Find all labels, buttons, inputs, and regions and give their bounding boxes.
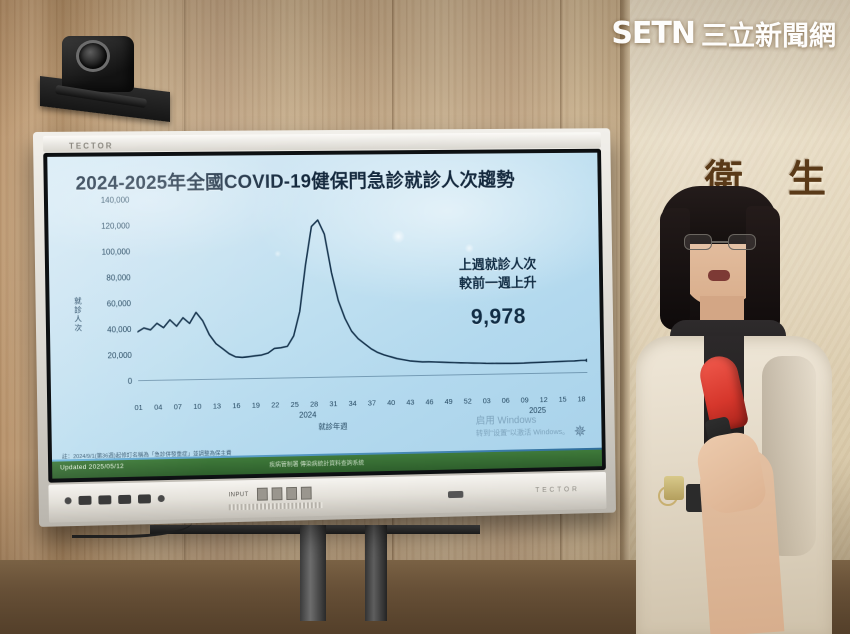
display-bezel: 2024-2025年全國COVID-19健保門急診就診人次趨勢 就診人次 020… (43, 149, 606, 483)
slide-title: 2024-2025年全國COVID-19健保門急診就診人次趨勢 (75, 164, 584, 195)
camera-lens-icon (76, 40, 110, 72)
display-screen[interactable]: 2024-2025年全國COVID-19健保門急診就診人次趨勢 就診人次 020… (47, 153, 602, 479)
channel-logo: SETN 三立新聞網 (611, 14, 836, 53)
chart-x-tick-label: 31 (329, 399, 337, 408)
slide-content: 2024-2025年全國COVID-19健保門急診就診人次趨勢 就診人次 020… (47, 153, 602, 479)
chart-x-tick-label: 13 (213, 401, 221, 410)
chart-x-tick-label: 07 (174, 402, 182, 411)
speaker-person (612, 186, 850, 634)
chart-y-tick-label: 80,000 (106, 273, 130, 282)
display-button-cluster[interactable]: INPUT (228, 487, 311, 502)
chart-x-tick-label: 19 (252, 401, 260, 410)
usb-port-icon (98, 495, 111, 504)
watermark-line-2: 转到"设置"以激活 Windows。 (476, 426, 569, 440)
chart-callout-annotation: 上週就診人次 較前一週上升 9,978 (459, 255, 538, 330)
news-broadcast-scene: 衛 生 Cen TECTOR 2024-2025年全國COVID-19健保門急診… (0, 0, 850, 634)
chart-y-axis-ticks: 020,00040,00060,00080,000100,000120,0001… (84, 200, 137, 426)
speaker-mouth (708, 270, 730, 281)
chart-x-tick-label: 52 (464, 397, 472, 406)
chart-y-tick-label: 100,000 (101, 247, 130, 256)
speaker-hair-left (660, 208, 690, 330)
chart-year-group-label: 2025 (529, 406, 546, 415)
chart-x-tick-label: 28 (310, 400, 318, 409)
chart-y-tick-label: 0 (128, 377, 133, 386)
callout-line-1: 上週就診人次 (459, 255, 537, 275)
callout-number: 9,978 (459, 304, 537, 331)
chart-x-tick-label: 40 (387, 398, 395, 407)
display-port-cluster (65, 494, 165, 505)
chart-x-tick-label: 04 (154, 403, 162, 412)
display-power-button[interactable] (300, 487, 311, 500)
chart-x-tick-label: 15 (559, 395, 567, 404)
channel-logo-mark: SETN (611, 16, 695, 51)
chart-y-tick-label: 60,000 (107, 299, 131, 308)
chart-x-tick-label: 37 (368, 398, 376, 407)
display-brand-logo-right: TECTOR (535, 486, 579, 494)
display-menu-button[interactable] (256, 488, 267, 501)
slide-updated-label: Updated 2025/05/12 (60, 463, 124, 471)
usb-port-icon (78, 496, 91, 505)
chart-y-tick-label: 20,000 (108, 351, 132, 360)
windows-snowflake-icon: ✵ (573, 422, 586, 442)
chart-x-axis-title: 就診年週 (318, 421, 347, 432)
chart-x-tick-label: 18 (577, 394, 585, 403)
speaker-hair-right (746, 206, 780, 338)
chart-x-tick-label: 06 (502, 396, 510, 405)
display-stand-column (365, 525, 387, 621)
id-badge (664, 476, 684, 500)
chart-x-tick-label: 46 (425, 397, 433, 406)
audio-jack-icon (158, 495, 165, 502)
presentation-display: TECTOR 2024-2025年全國COVID-19健保門急診就診人次趨勢 就… (36, 132, 630, 527)
chart-y-tick-label: 120,000 (101, 221, 130, 230)
chart-x-tick-label: 22 (271, 400, 279, 409)
display-control-label: INPUT (229, 492, 249, 498)
chart-x-tick-label: 34 (349, 399, 357, 408)
chart-x-tick-label: 01 (134, 403, 142, 412)
display-speaker-grille (229, 502, 323, 510)
chart-year-group-label: 2024 (299, 410, 316, 419)
chart-x-tick-label: 10 (193, 402, 201, 411)
chart-x-tick-label: 43 (406, 398, 414, 407)
chart-x-tick-label: 03 (483, 396, 491, 405)
slide-footer-source: 疾病管制署 傳染病統計資料查詢系統 (269, 458, 364, 469)
windows-activation-watermark: 启用 Windows 转到"设置"以激活 Windows。 (476, 414, 570, 439)
channel-logo-chinese: 三立新聞網 (701, 14, 836, 53)
chart-y-tick-label: 40,000 (107, 325, 131, 334)
chart-y-tick-label: 140,000 (101, 196, 130, 205)
hdmi-port-icon (118, 495, 131, 504)
chart-x-tick-label: 49 (445, 397, 453, 406)
chart-x-tick-label: 25 (291, 400, 299, 409)
hdmi-port-icon (138, 494, 151, 503)
display-volume-up-button[interactable] (286, 487, 297, 500)
ir-receiver-icon (448, 491, 463, 498)
chart-x-tick-label: 09 (521, 396, 529, 405)
display-stand-column (300, 525, 326, 621)
chart-x-tick-label: 12 (540, 395, 548, 404)
display-brand-label: TECTOR (69, 141, 114, 150)
power-led-icon (65, 497, 72, 504)
chart-y-axis-title: 就診人次 (71, 296, 84, 332)
display-volume-down-button[interactable] (271, 487, 282, 500)
display-chassis: TECTOR 2024-2025年全國COVID-19健保門急診就診人次趨勢 就… (33, 128, 616, 527)
glasses-icon (684, 234, 756, 250)
chart-x-tick-label: 16 (232, 401, 240, 410)
callout-line-2: 較前一週上升 (459, 273, 537, 293)
